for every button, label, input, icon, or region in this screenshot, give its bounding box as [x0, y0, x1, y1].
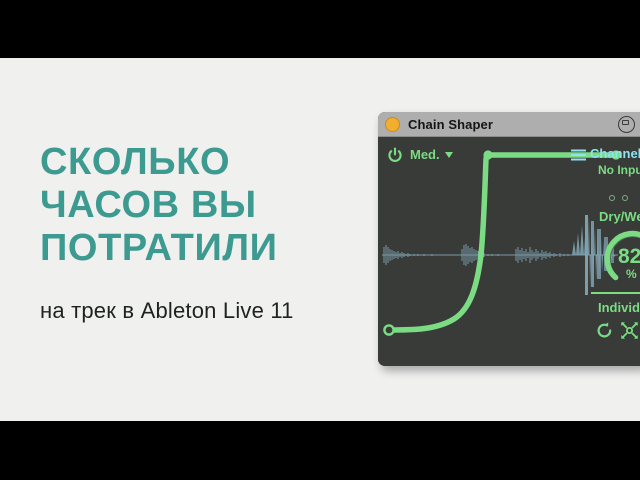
- letterbox-bottom: [0, 421, 640, 480]
- dry-wet-value: 82: [618, 245, 640, 269]
- channel-label[interactable]: Channel: [590, 146, 640, 161]
- plugin-title: Chain Shaper: [408, 117, 493, 132]
- routing-dot-2: [622, 195, 628, 201]
- plugin-titlebar[interactable]: Chain Shaper: [378, 112, 640, 137]
- routing-dot-1: [609, 195, 615, 201]
- spread-nodes-icon[interactable]: [620, 321, 639, 340]
- curve-handle-knee: [483, 150, 492, 159]
- individual-mode-label[interactable]: Individual: [598, 300, 640, 315]
- input-routing-label[interactable]: No Input: [598, 163, 640, 177]
- hamburger-menu-icon[interactable]: [571, 149, 586, 161]
- plugin-window[interactable]: Chain Shaper: [378, 112, 640, 366]
- retrigger-loop-icon[interactable]: [595, 321, 614, 340]
- page-subtitle: на трек в Ableton Live 11: [40, 298, 360, 324]
- panel-divider: [591, 292, 640, 294]
- mode-dropdown-label: Med.: [410, 147, 440, 162]
- chevron-down-icon: [445, 152, 453, 158]
- dry-wet-label: Dry/Wet: [599, 209, 640, 224]
- mode-dropdown[interactable]: Med.: [410, 147, 453, 162]
- resize-window-icon[interactable]: [618, 116, 635, 133]
- page-title: СКОЛЬКО ЧАСОВ ВЫ ПОТРАТИЛИ: [40, 141, 340, 270]
- slide-canvas: СКОЛЬКО ЧАСОВ ВЫ ПОТРАТИЛИ на трек в Abl…: [0, 58, 640, 421]
- power-icon[interactable]: [387, 147, 403, 163]
- dry-wet-unit: %: [626, 267, 640, 281]
- plugin-body: Med. Channel No Input Dry/Wet: [378, 137, 640, 366]
- device-enable-dot-icon[interactable]: [385, 117, 400, 132]
- routing-indicator-dots: [609, 195, 628, 201]
- screenshot-stage: СКОЛЬКО ЧАСОВ ВЫ ПОТРАТИЛИ на трек в Abl…: [0, 0, 640, 480]
- curve-handle-start: [384, 325, 393, 334]
- letterbox-top: [0, 0, 640, 58]
